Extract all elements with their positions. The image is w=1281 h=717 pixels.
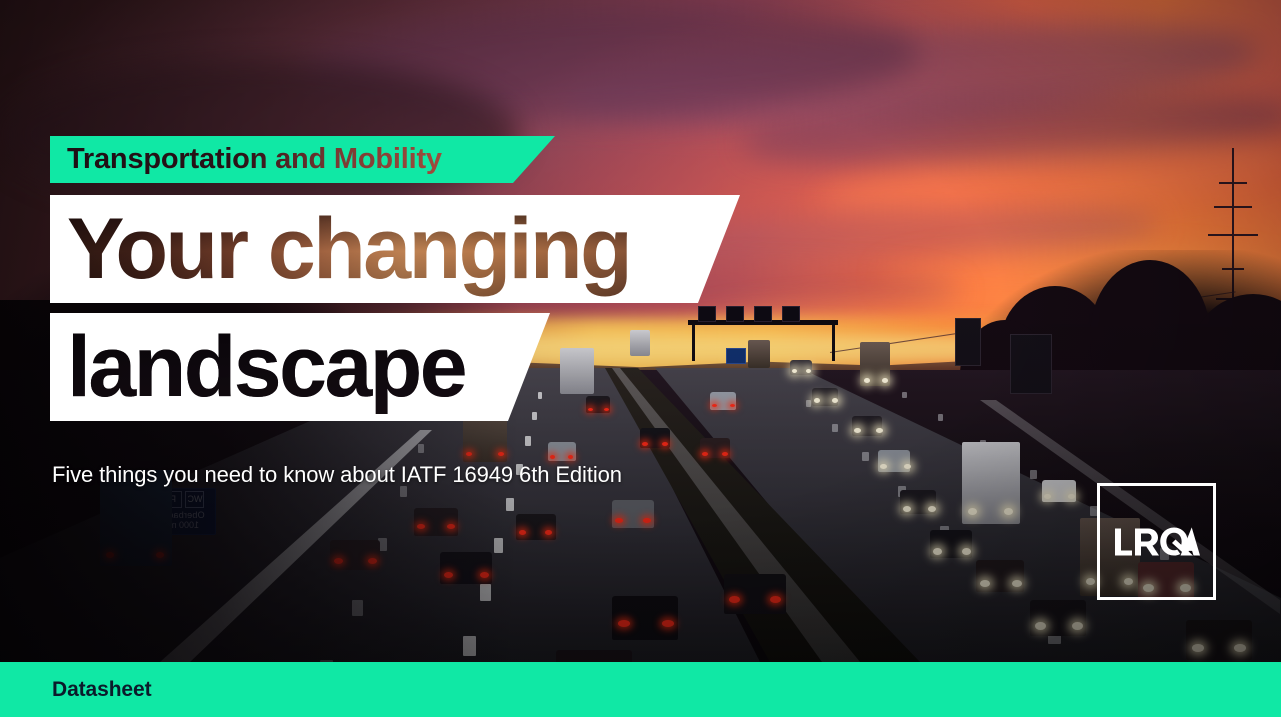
headline-line2: landscape [67,313,465,421]
headline-banner-line2: landscape [50,313,550,421]
eyebrow-label: Transportation and Mobility [67,143,442,176]
vehicle-car [812,388,838,406]
headline-line1: Your changing [67,195,630,303]
motorway-sign-far [726,348,746,364]
vehicle-truck [748,340,770,368]
vehicle-car [330,540,380,570]
overhead-sign [955,318,981,366]
vehicle-car [516,514,556,540]
footer-bar: Datasheet [0,662,1281,717]
vehicle-car [414,508,458,536]
vehicle-car [612,500,654,528]
footer-label: Datasheet [52,678,151,702]
cloud [0,60,520,210]
vehicle-car [440,552,492,584]
vehicle-car [710,392,736,410]
vehicle-truck [560,348,594,394]
overhead-sign [1010,334,1052,394]
vehicle-car [1186,620,1252,660]
vehicle-truck [630,330,650,356]
eyebrow-banner: Transportation and Mobility [50,136,555,183]
headline-banner-line1: Your changing [50,195,740,303]
sign-distance: 1000 m [169,520,199,530]
lrqa-logo [1097,483,1216,600]
vehicle-car [556,650,632,662]
vehicle-car [724,574,786,614]
datasheet-cover: WC P Oberbach 1000 m [0,0,1281,717]
vehicle-car [976,560,1024,592]
vehicle-car [1030,600,1086,636]
lrqa-wordmark-icon [1114,525,1200,559]
subtitle: Five things you need to know about IATF … [52,462,622,488]
wc-symbol: WC [186,491,205,508]
vehicle-car [612,596,678,640]
vehicle-car [852,416,882,436]
